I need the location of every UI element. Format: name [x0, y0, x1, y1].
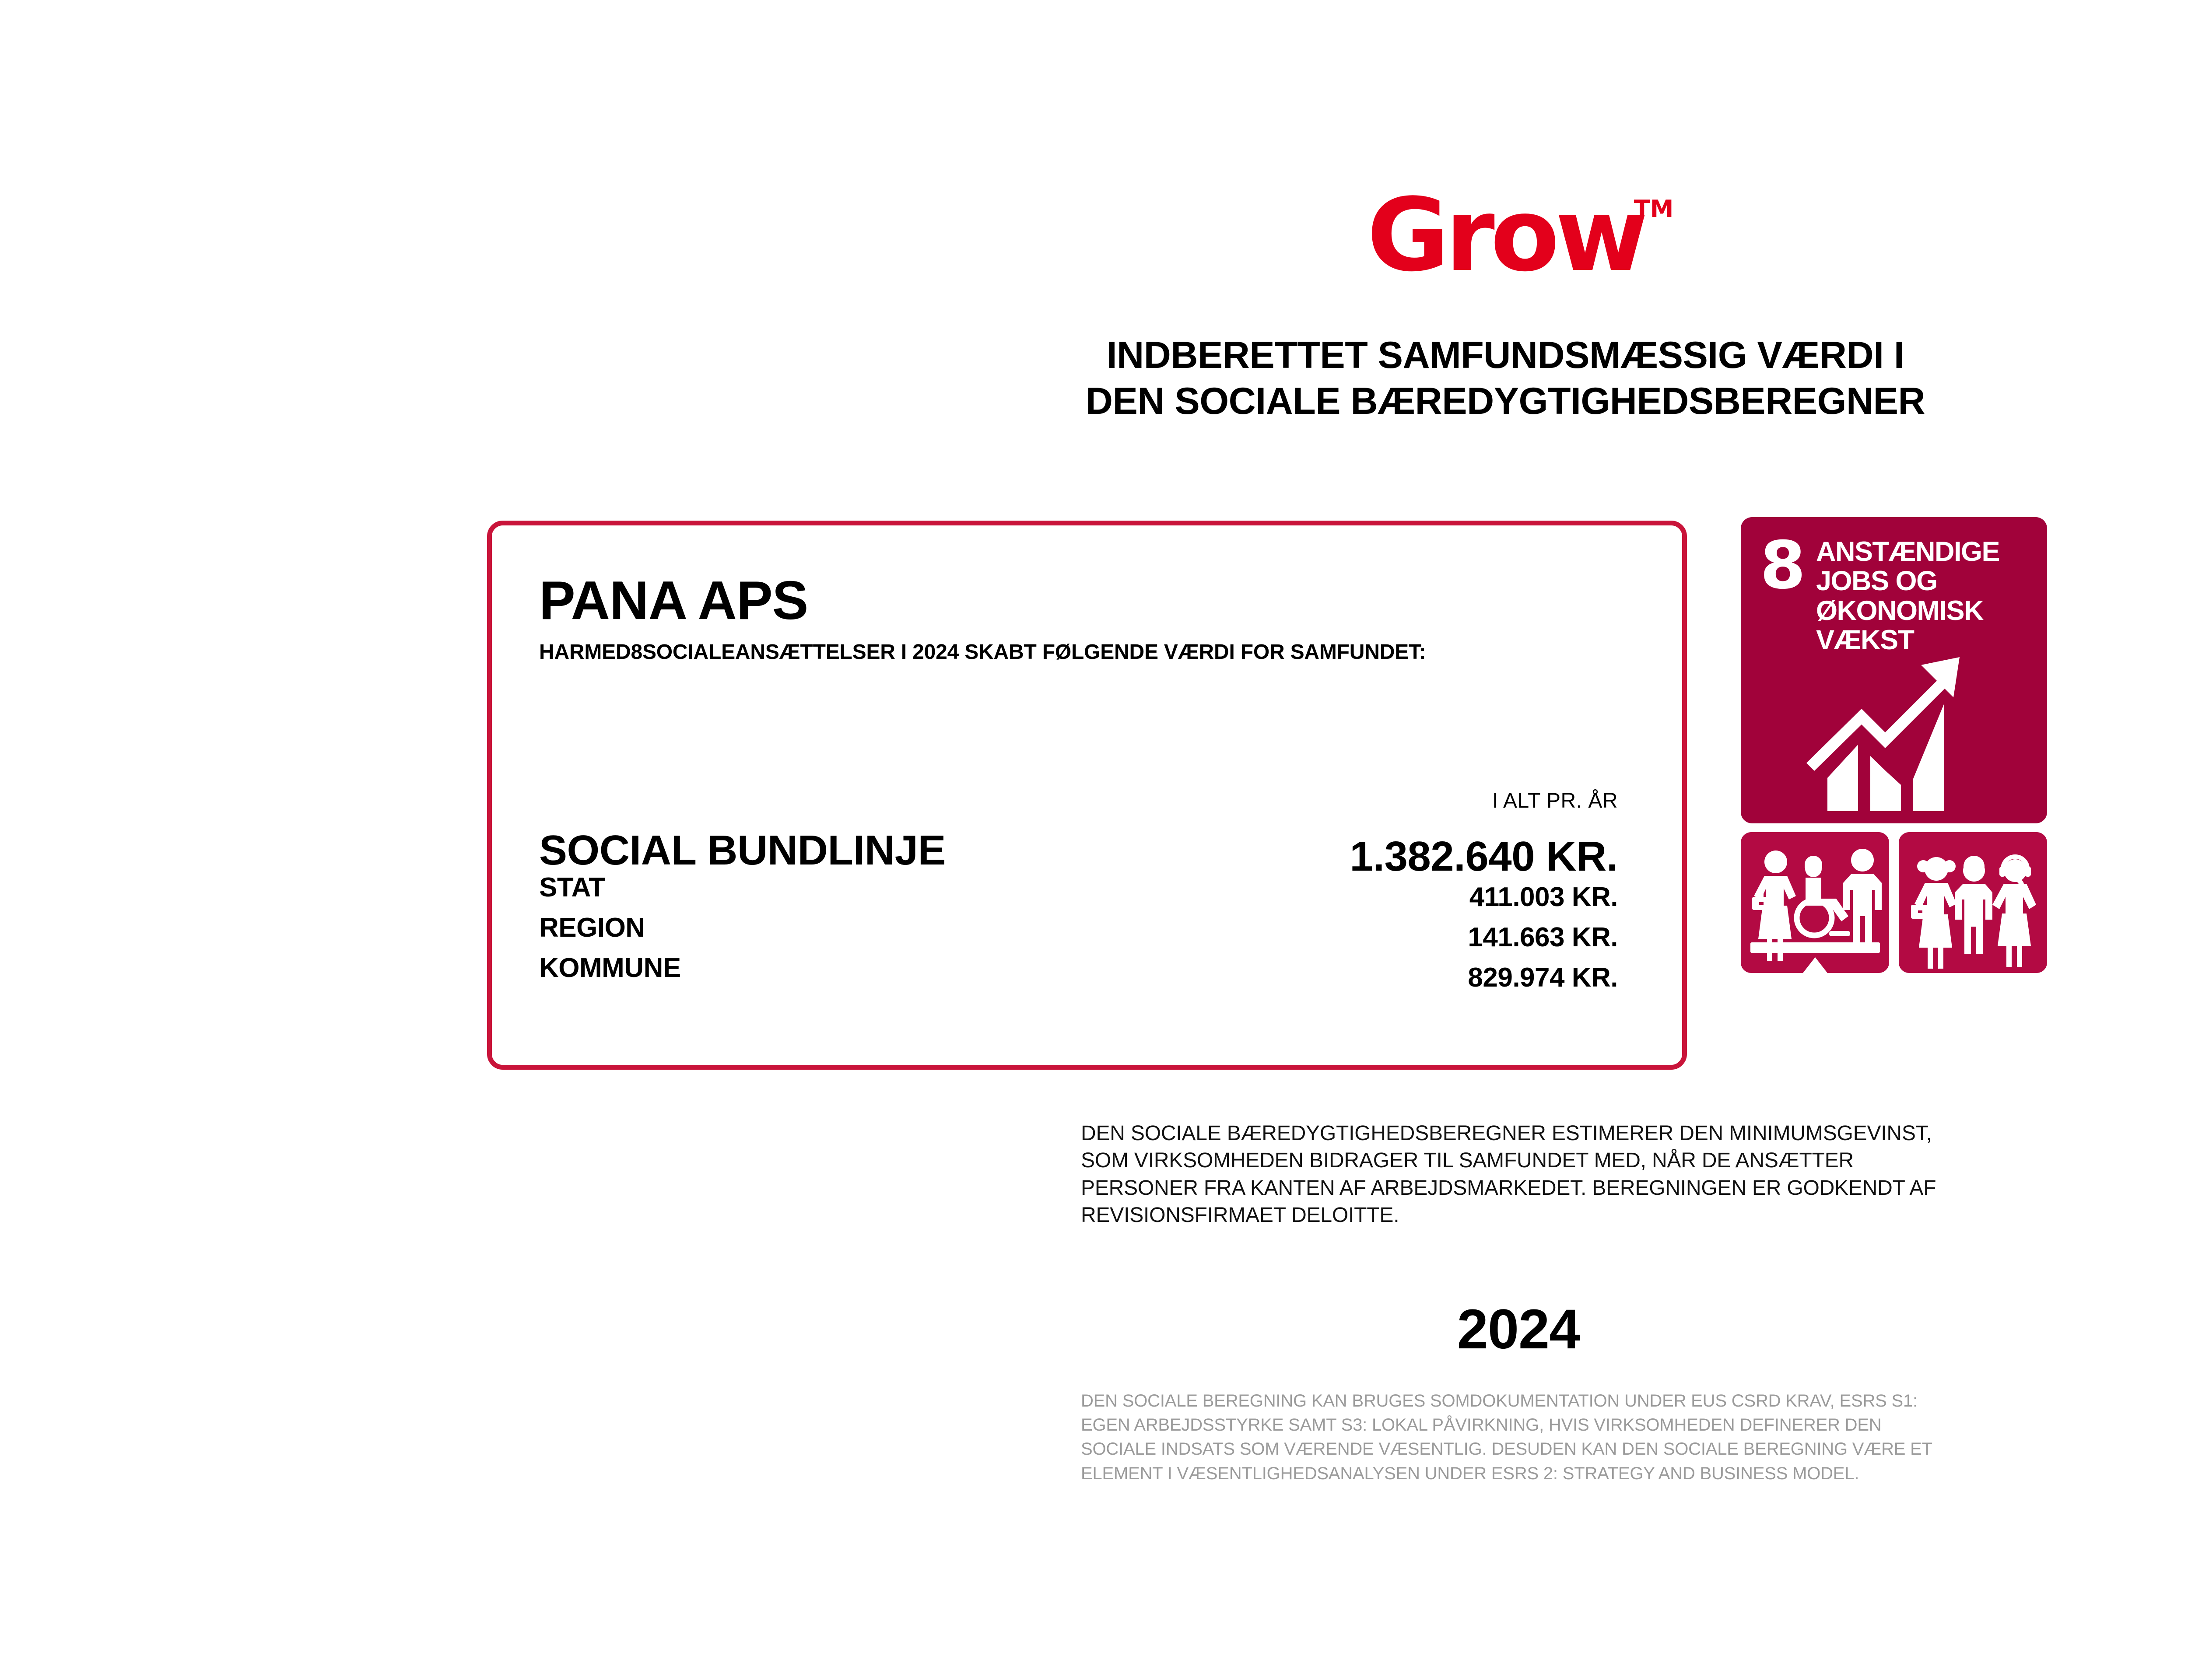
explanation-text: DEN SOCIALE BÆREDYGTIGHEDSBEREGNER ESTIM… — [1081, 1120, 1956, 1229]
company-subtitle: HARMED8SOCIALEANSÆTTELSER I 2024 SKABT F… — [539, 637, 1537, 667]
report-year: 2024 — [1081, 1302, 1956, 1358]
row-label-kommune: KOMMUNE — [539, 952, 681, 983]
sdg-badge-group: 8 ANSTÆNDIGE JOBS OG ØKONOMISK VÆKST — [1741, 517, 2047, 973]
diversity-people-badge — [1899, 832, 2047, 973]
sdg-badge-8: 8 ANSTÆNDIGE JOBS OG ØKONOMISK VÆKST — [1741, 517, 2047, 823]
growth-chart-icon — [1741, 640, 2047, 823]
row-value-stat: 411.003 KR. — [1469, 882, 1618, 913]
footnote-text: DEN SOCIALE BEREGNING KAN BRUGES SOMDOKU… — [1081, 1389, 1934, 1486]
diversity-people-icon — [1899, 832, 2047, 973]
row-value-region: 141.663 KR. — [1468, 922, 1618, 953]
value-summary-card: PANA APS HARMED8SOCIALEANSÆTTELSER I 202… — [487, 521, 1687, 1070]
sdg-title: ANSTÆNDIGE JOBS OG ØKONOMISK VÆKST — [1816, 537, 2039, 655]
card-content: PANA APS HARMED8SOCIALEANSÆTTELSER I 202… — [539, 574, 1646, 667]
page-title-line1: INDBERETTET SAMFUNDSMÆSSIG VÆRDI I — [1107, 334, 1904, 376]
row-label-stat: STAT — [539, 872, 605, 903]
figures-table: SOCIAL BUNDLINJE 1.382.640 KR. STAT 411.… — [539, 826, 1618, 993]
period-label: I ALT PR. ÅR — [539, 789, 1618, 813]
table-row: REGION 141.663 KR. — [539, 912, 1618, 952]
page-title: INDBERETTET SAMFUNDSMÆSSIG VÆRDI I DEN S… — [0, 332, 2188, 424]
page-title-line2: DEN SOCIALE BÆREDYGTIGHEDSBEREGNER — [0, 378, 2188, 424]
report-page: GrowTM INDBERETTET SAMFUNDSMÆSSIG VÆRDI … — [0, 0, 2188, 1680]
inclusion-balance-icon — [1741, 832, 1889, 973]
row-label-region: REGION — [539, 912, 645, 943]
table-row: SOCIAL BUNDLINJE 1.382.640 KR. — [539, 826, 1618, 872]
trademark-icon: TM — [1634, 198, 1674, 220]
sdg-number: 8 — [1760, 533, 1806, 598]
company-name: PANA APS — [539, 574, 1646, 628]
inclusion-balance-badge — [1741, 832, 1889, 973]
brand-logo: GrowTM — [0, 188, 2188, 284]
table-row: KOMMUNE 829.974 KR. — [539, 952, 1618, 993]
row-label-social-bundlinje: SOCIAL BUNDLINJE — [539, 826, 946, 875]
sdg-sub-badges — [1741, 832, 2047, 973]
logo-text: Grow — [1367, 177, 1644, 294]
row-value-kommune: 829.974 KR. — [1468, 962, 1618, 993]
table-row: STAT 411.003 KR. — [539, 872, 1618, 912]
grow-logo-wordmark: GrowTM — [1367, 188, 1644, 284]
